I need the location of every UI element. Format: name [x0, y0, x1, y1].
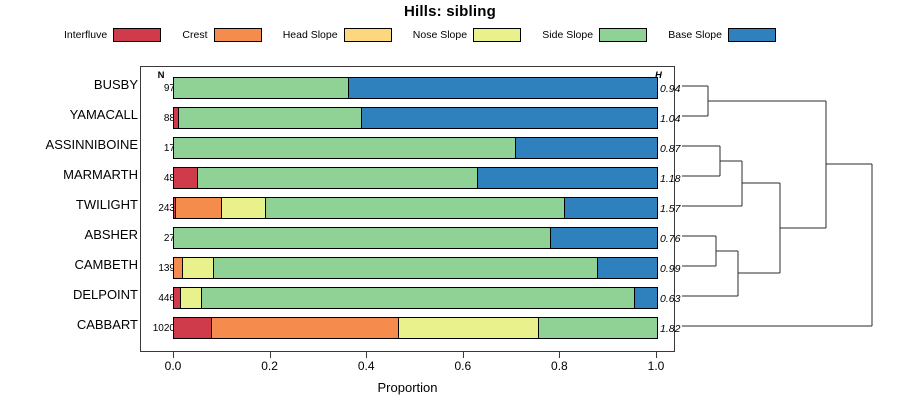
- stacked-bar: [173, 287, 658, 309]
- legend-swatch: [473, 28, 521, 42]
- stacked-bar: [173, 227, 658, 249]
- axis-tick: [559, 352, 560, 358]
- legend-swatch: [728, 28, 776, 42]
- legend-swatch: [599, 28, 647, 42]
- row-count-n: 17: [146, 132, 175, 162]
- bar-segment: [176, 198, 222, 218]
- bar-segment: [174, 168, 198, 188]
- x-axis-label: Proportion: [140, 380, 675, 395]
- bar-segment: [174, 258, 183, 278]
- legend-item: Side Slope: [542, 28, 647, 42]
- chart-root: Hills: sibling InterfluveCrestHead Slope…: [0, 0, 900, 420]
- stacked-bar: [173, 317, 658, 339]
- row-count-n: 88: [146, 102, 175, 132]
- row-label: BUSBY: [94, 72, 138, 102]
- bar-segment: [181, 288, 202, 308]
- bar-segment: [516, 138, 657, 158]
- legend-item: Head Slope: [283, 28, 392, 42]
- row-label: ABSHER: [85, 222, 138, 252]
- axis-tick-label: 0.6: [443, 359, 483, 373]
- dendrogram: [676, 66, 900, 352]
- row-count-n: 48: [146, 162, 175, 192]
- bar-segment: [349, 78, 657, 98]
- legend-item: Interfluve: [64, 28, 161, 42]
- page-title: Hills: sibling: [0, 3, 900, 20]
- axis-tick-label: 0.8: [539, 359, 579, 373]
- legend-label: Interfluve: [64, 29, 107, 41]
- dendrogram-svg: [676, 66, 900, 352]
- legend-label: Nose Slope: [413, 29, 467, 41]
- legend-swatch: [214, 28, 262, 42]
- bar-segment: [174, 138, 516, 158]
- row-count-n: 446: [146, 282, 175, 312]
- axis-tick-label: 0.0: [153, 359, 193, 373]
- axis-tick: [656, 352, 657, 358]
- legend-swatch: [344, 28, 392, 42]
- legend-item: Crest: [182, 28, 261, 42]
- row-count-n: 243: [146, 192, 175, 222]
- bar-segment: [174, 78, 349, 98]
- bar-segment: [539, 318, 657, 338]
- axis-tick: [270, 352, 271, 358]
- legend-item: Base Slope: [668, 28, 776, 42]
- bar-segment: [565, 198, 657, 218]
- row-label: TWILIGHT: [76, 192, 138, 222]
- row-label: YAMACALL: [70, 102, 138, 132]
- legend-swatch: [113, 28, 161, 42]
- stacked-bar: [173, 257, 658, 279]
- stacked-bar: [173, 167, 658, 189]
- legend-label: Side Slope: [542, 29, 593, 41]
- row-count-n: 27: [146, 222, 175, 252]
- axis-tick-label: 0.4: [346, 359, 386, 373]
- bar-segment: [174, 318, 212, 338]
- stacked-bar: [173, 77, 658, 99]
- axis-tick: [173, 352, 174, 358]
- row-label: ASSINNIBOINE: [46, 132, 138, 162]
- row-label: MARMARTH: [63, 162, 138, 192]
- bar-segment: [183, 258, 214, 278]
- legend: InterfluveCrestHead SlopeNose SlopeSide …: [64, 26, 776, 44]
- axis-tick: [463, 352, 464, 358]
- bar-segment: [222, 198, 265, 218]
- axis-tick-label: 1.0: [636, 359, 676, 373]
- bar-segment: [214, 258, 598, 278]
- bar-segment: [551, 228, 657, 248]
- legend-label: Head Slope: [283, 29, 338, 41]
- bar-segment: [198, 168, 478, 188]
- axis-tick-label: 0.2: [250, 359, 290, 373]
- axis-tick: [366, 352, 367, 358]
- stacked-bar: [173, 197, 658, 219]
- bar-segment: [212, 318, 399, 338]
- row-label: DELPOINT: [73, 282, 138, 312]
- stacked-bar: [173, 137, 658, 159]
- stacked-bar: [173, 107, 658, 129]
- row-count-n: 139: [146, 252, 175, 282]
- bar-segment: [635, 288, 657, 308]
- row-count-n: 1020: [146, 312, 175, 342]
- bar-segment: [174, 288, 181, 308]
- legend-label: Base Slope: [668, 29, 722, 41]
- legend-item: Nose Slope: [413, 28, 521, 42]
- row-count-n: 97: [146, 72, 175, 102]
- row-label: CAMBETH: [74, 252, 138, 282]
- bar-segment: [598, 258, 657, 278]
- legend-label: Crest: [182, 29, 207, 41]
- bar-segment: [362, 108, 657, 128]
- bar-segment: [478, 168, 657, 188]
- bar-segment: [179, 108, 362, 128]
- bar-segment: [399, 318, 539, 338]
- bar-segment: [174, 228, 551, 248]
- bar-segment: [266, 198, 565, 218]
- bar-segment: [202, 288, 635, 308]
- row-label: CABBART: [77, 312, 138, 342]
